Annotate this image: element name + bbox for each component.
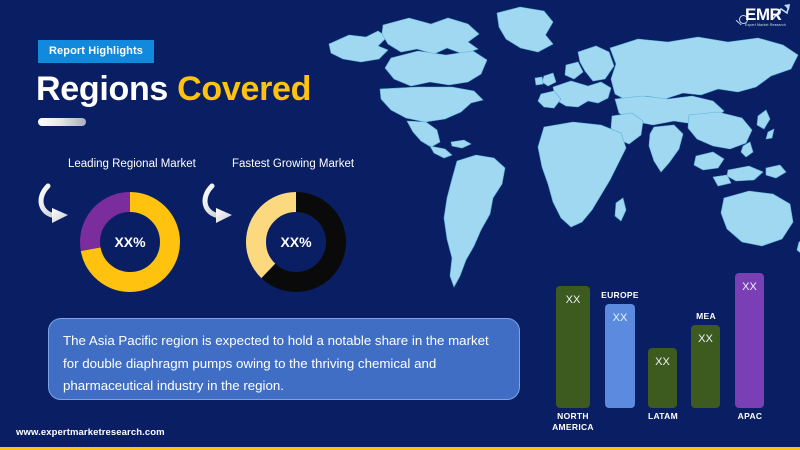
regional-bar-chart: XX NORTH AMERICA XX EUROPE XX LATAM XX M… [548, 278, 798, 428]
insight-callout: The Asia Pacific region is expected to h… [48, 318, 520, 400]
logo-wordmark: EMR [745, 6, 781, 23]
insight-callout-text: The Asia Pacific region is expected to h… [63, 330, 503, 398]
curved-arrow-icon [38, 182, 80, 226]
page-title-accent: Covered [177, 70, 311, 108]
donut-block-fastest: Fastest Growing Market XX% [202, 158, 382, 298]
bar-latam[interactable]: XX [648, 348, 677, 408]
donut-center-value-1: XX% [244, 234, 348, 250]
page-title-primary: Regions [36, 70, 177, 108]
title-underline-bar [38, 118, 86, 126]
logo-tagline: Expert Market Research [745, 23, 786, 27]
bar-value-0: XX [556, 294, 590, 306]
bar-value-3: XX [691, 333, 720, 345]
world-map [318, 0, 800, 296]
footer-website-url[interactable]: www.expertmarketresearch.com [16, 427, 165, 438]
page-title: Regions Covered [36, 70, 311, 109]
donut-block-leading: Leading Regional Market XX% [36, 158, 216, 298]
bar-label-north-america: NORTH AMERICA [546, 411, 600, 433]
report-highlights-badge: Report Highlights [38, 40, 154, 63]
bar-value-1: XX [605, 312, 635, 324]
slide-canvas: EMR Expert Market Research Report Highli… [0, 0, 800, 450]
curved-arrow-icon [202, 182, 244, 226]
bar-label-apac: APAC [725, 411, 775, 422]
bar-apac[interactable]: XX [735, 273, 764, 408]
bar-value-4: XX [735, 281, 764, 293]
bar-label-europe: EUROPE [594, 290, 646, 300]
bar-label-latam: LATAM [638, 411, 688, 422]
bar-north-america[interactable]: XX [556, 286, 590, 408]
donut-caption-0: Leading Regional Market [68, 158, 196, 170]
bar-label-mea: MEA [680, 311, 732, 321]
emr-logo[interactable]: EMR Expert Market Research [732, 2, 794, 36]
donut-center-value-0: XX% [78, 234, 182, 250]
bar-mea[interactable]: XX [691, 325, 720, 408]
bar-value-2: XX [648, 356, 677, 368]
bar-europe[interactable]: XX [605, 304, 635, 408]
donut-caption-1: Fastest Growing Market [232, 158, 354, 170]
